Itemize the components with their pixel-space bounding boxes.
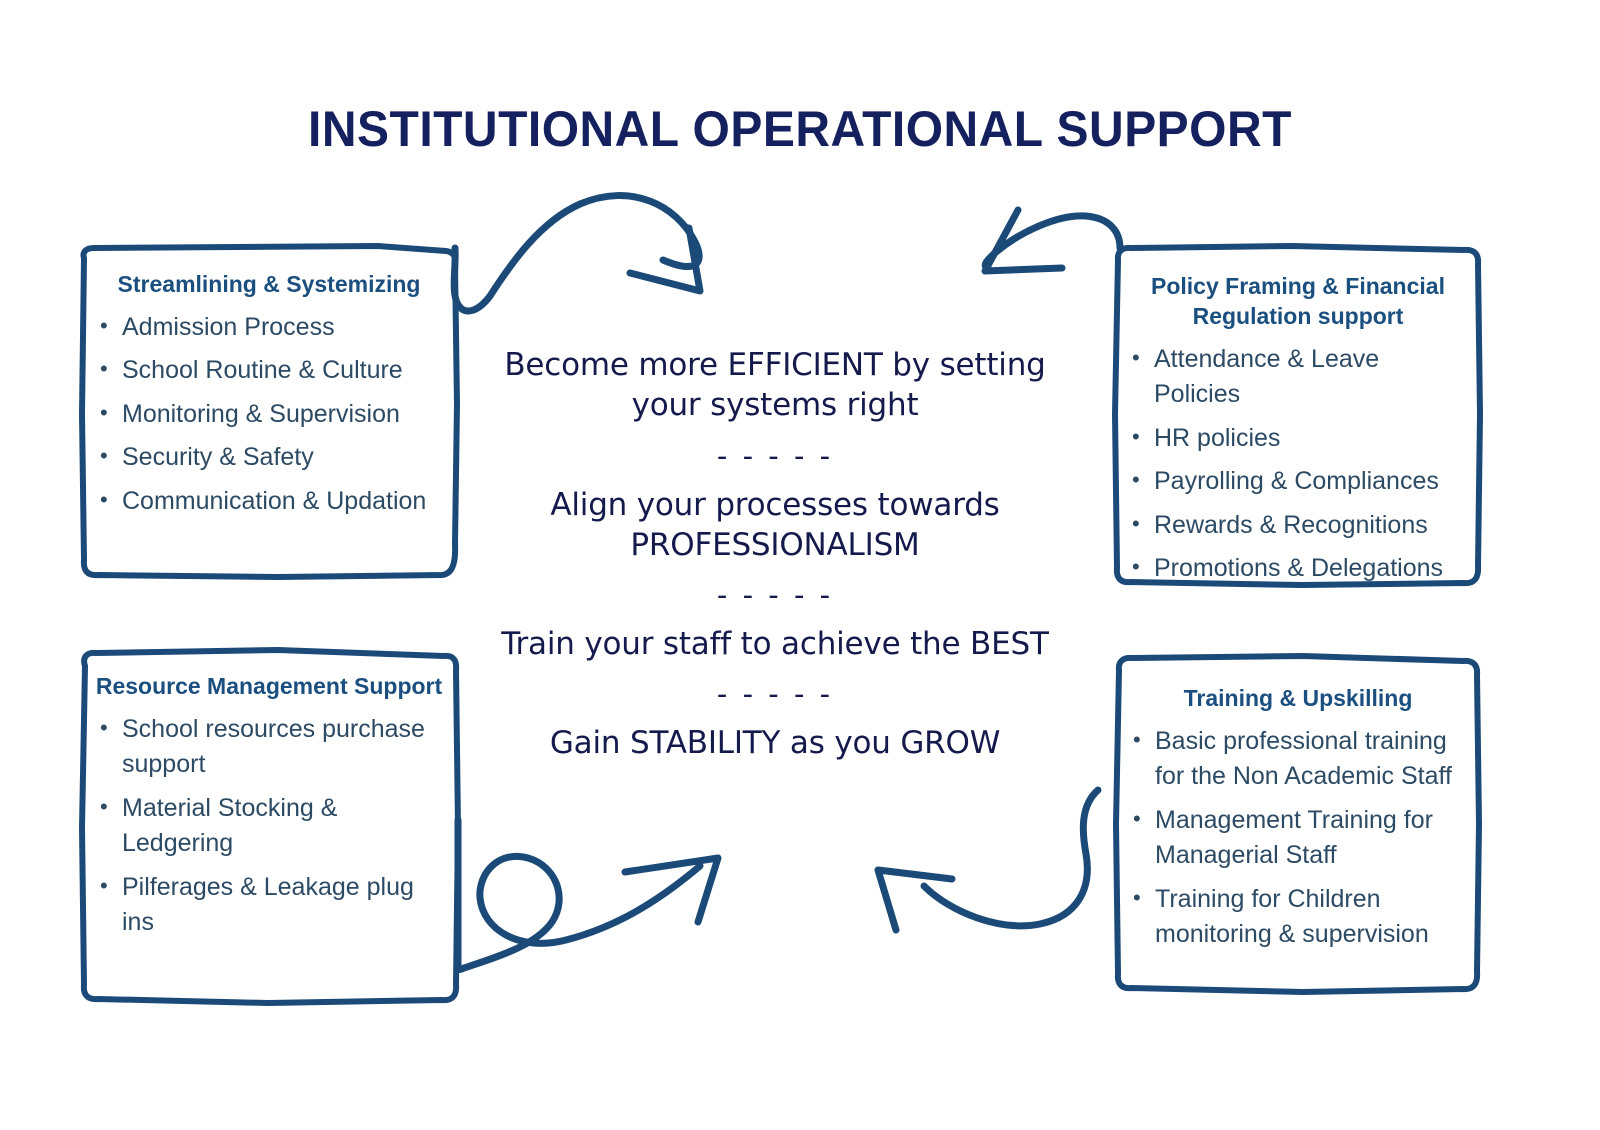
list-item-label: School resources purchase support <box>122 715 425 779</box>
center-separator-1: - - - - - <box>455 442 1095 471</box>
list-item-label: Admission Process <box>122 313 335 341</box>
list-item-label: Material Stocking & Ledgering <box>122 794 337 858</box>
card-streamlining-systemizing[interactable]: Streamlining & Systemizing •Admission Pr… <box>78 244 460 580</box>
center-line-2a: Align your processes towards <box>455 485 1095 525</box>
bullet-icon: • <box>1132 464 1140 495</box>
list-item: •Monitoring & Supervision <box>94 397 444 433</box>
card-resource-management-support[interactable]: Resource Management Support •School reso… <box>78 648 460 1006</box>
arrow-top-right-to-center <box>985 210 1120 271</box>
card-heading: Streamlining & Systemizing <box>94 270 444 300</box>
bullet-icon: • <box>1133 882 1141 913</box>
bullet-icon: • <box>1132 342 1140 373</box>
list-item-label: Management Training for Managerial Staff <box>1155 806 1433 870</box>
list-item: •Attendance & Leave Policies <box>1126 342 1470 413</box>
list-item-label: Communication & Updation <box>122 487 426 515</box>
list-item-label: Training for Children monitoring & super… <box>1155 885 1429 949</box>
center-message-block: Become more EFFICIENT by setting your sy… <box>455 345 1095 764</box>
list-item: •Promotions & Delegations <box>1126 551 1470 587</box>
card-heading: Policy Framing & Financial Regulation su… <box>1126 272 1470 332</box>
card-list: •Basic professional training for the Non… <box>1127 724 1469 953</box>
list-item-label: HR policies <box>1154 424 1280 452</box>
list-item: •Admission Process <box>94 310 444 346</box>
list-item-label: Pilferages & Leakage plug ins <box>122 873 414 937</box>
card-policy-framing-financial-regulation[interactable]: Policy Framing & Financial Regulation su… <box>1112 244 1484 588</box>
center-line-2b: PROFESSIONALISM <box>455 525 1095 565</box>
center-separator-3: - - - - - <box>455 680 1095 709</box>
page-title: INSTITUTIONAL OPERATIONAL SUPPORT <box>32 100 1568 158</box>
list-item: •Communication & Updation <box>94 484 444 520</box>
bullet-icon: • <box>1133 724 1141 755</box>
bullet-icon: • <box>100 310 108 341</box>
list-item: •School resources purchase support <box>94 712 444 783</box>
center-line-3: Train your staff to achieve the BEST <box>455 624 1095 664</box>
bullet-icon: • <box>100 712 108 743</box>
bullet-icon: • <box>1132 421 1140 452</box>
card-heading: Training & Upskilling <box>1127 684 1469 714</box>
bullet-icon: • <box>1133 803 1141 834</box>
list-item-label: Promotions & Delegations <box>1154 554 1443 582</box>
center-separator-2: - - - - - <box>455 581 1095 610</box>
list-item: •Training for Children monitoring & supe… <box>1127 882 1469 953</box>
arrow-bottom-right-to-center <box>878 790 1098 930</box>
list-item: •Management Training for Managerial Staf… <box>1127 803 1469 874</box>
list-item-label: Monitoring & Supervision <box>122 400 400 428</box>
list-item-label: Payrolling & Compliances <box>1154 467 1439 495</box>
center-line-4: Gain STABILITY as you GROW <box>455 723 1095 763</box>
list-item: •School Routine & Culture <box>94 353 444 389</box>
list-item: •Material Stocking & Ledgering <box>94 791 444 862</box>
bullet-icon: • <box>100 484 108 515</box>
list-item: •Basic professional training for the Non… <box>1127 724 1469 795</box>
bullet-icon: • <box>1132 551 1140 582</box>
bullet-icon: • <box>100 440 108 471</box>
card-list: •Admission Process •School Routine & Cul… <box>94 310 444 520</box>
list-item: •Payrolling & Compliances <box>1126 464 1470 500</box>
list-item: •Rewards & Recognitions <box>1126 508 1470 544</box>
bullet-icon: • <box>1132 508 1140 539</box>
card-training-upskilling[interactable]: Training & Upskilling •Basic professiona… <box>1113 654 1483 994</box>
center-line-1a: Become more EFFICIENT by setting <box>455 345 1095 385</box>
bullet-icon: • <box>100 397 108 428</box>
list-item: •HR policies <box>1126 421 1470 457</box>
card-list: •Attendance & Leave Policies •HR policie… <box>1126 342 1470 587</box>
bullet-icon: • <box>100 353 108 384</box>
center-line-1b: your systems right <box>455 385 1095 425</box>
infographic-canvas: INSTITUTIONAL OPERATIONAL SUPPORT St <box>0 0 1600 1130</box>
list-item-label: Rewards & Recognitions <box>1154 511 1428 539</box>
list-item-label: School Routine & Culture <box>122 356 403 384</box>
card-list: •School resources purchase support •Mate… <box>94 712 444 941</box>
list-item: •Pilferages & Leakage plug ins <box>94 870 444 941</box>
bullet-icon: • <box>100 791 108 822</box>
card-heading: Resource Management Support <box>94 672 444 702</box>
bullet-icon: • <box>100 870 108 901</box>
list-item-label: Basic professional training for the Non … <box>1155 727 1452 791</box>
list-item: •Security & Safety <box>94 440 444 476</box>
arrow-top-left-to-center <box>454 196 700 311</box>
list-item-label: Security & Safety <box>122 443 314 471</box>
arrow-bottom-left-to-center <box>458 820 718 970</box>
list-item-label: Attendance & Leave Policies <box>1154 345 1379 409</box>
